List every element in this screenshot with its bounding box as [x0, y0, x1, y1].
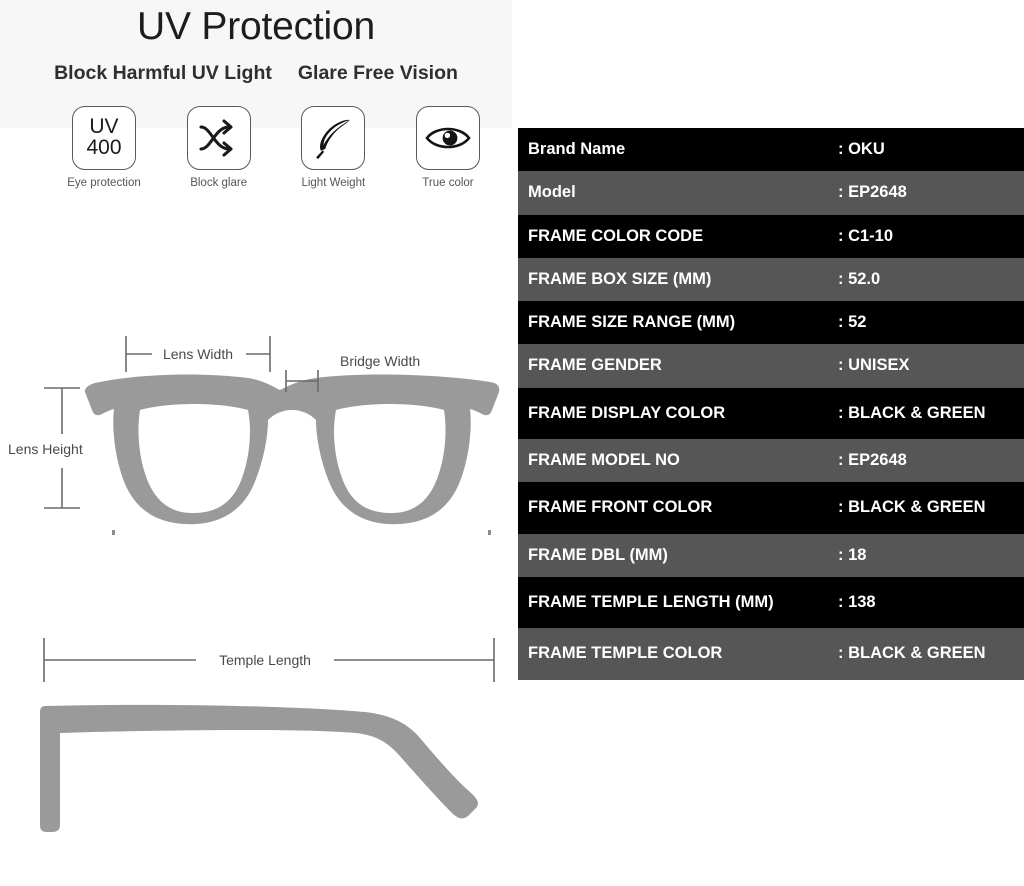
uv400-icon-line2: 400	[86, 138, 121, 159]
table-row: FRAME COLOR CODE : C1-10	[518, 215, 1024, 258]
table-row: FRAME MODEL NO : EP2648	[518, 439, 1024, 482]
table-row: FRAME DISPLAY COLOR : BLACK & GREEN	[518, 388, 1024, 439]
table-row: FRAME TEMPLE COLOR : BLACK & GREEN	[518, 628, 1024, 679]
lens-width-label: Lens Width	[163, 346, 233, 362]
spec-value: : BLACK & GREEN	[838, 482, 1024, 533]
uv-subtitle-glare-free: Glare Free Vision	[298, 62, 458, 85]
frame-specification-table: Brand Name : OKU Model : EP2648 FRAME CO…	[518, 128, 1024, 680]
uv-subtitle-block-harmful: Block Harmful UV Light	[54, 62, 272, 85]
spec-value: : BLACK & GREEN	[838, 628, 1024, 679]
uv-protection-title: UV Protection	[0, 6, 512, 49]
spec-label: FRAME TEMPLE COLOR	[518, 628, 838, 679]
feature-eye-protection: UV 400 Eye protection	[56, 106, 152, 189]
table-row: FRAME BOX SIZE (MM) : 52.0	[518, 258, 1024, 301]
spec-label: FRAME MODEL NO	[518, 439, 838, 482]
lens-height-label: Lens Height	[8, 441, 83, 457]
spec-label: FRAME DBL (MM)	[518, 534, 838, 577]
spec-value: : EP2648	[838, 171, 1024, 214]
shuffle-arrows-icon	[187, 106, 251, 170]
frame-front-diagram: Lens Width Bridge Width Lens Height	[0, 330, 512, 560]
table-row: FRAME FRONT COLOR : BLACK & GREEN	[518, 482, 1024, 533]
spec-value: : 52	[838, 301, 1024, 344]
feature-caption-true-color: True color	[422, 177, 473, 189]
spec-value: : 52.0	[838, 258, 1024, 301]
table-row: Model : EP2648	[518, 171, 1024, 214]
eye-icon	[416, 106, 480, 170]
feature-icon-row: UV 400 Eye protection Block glare	[56, 106, 496, 189]
feature-caption-eye-protection: Eye protection	[67, 177, 141, 189]
temple-length-label: Temple Length	[219, 652, 311, 668]
feature-caption-block-glare: Block glare	[190, 177, 247, 189]
feature-light-weight: Light Weight	[285, 106, 381, 189]
table-row: FRAME DBL (MM) : 18	[518, 534, 1024, 577]
spec-label: FRAME GENDER	[518, 344, 838, 387]
spec-label: FRAME DISPLAY COLOR	[518, 388, 838, 439]
table-row: FRAME TEMPLE LENGTH (MM) : 138	[518, 577, 1024, 628]
uv400-icon: UV 400	[72, 106, 136, 170]
feather-icon	[301, 106, 365, 170]
spec-value: : 18	[838, 534, 1024, 577]
spec-value: : EP2648	[838, 439, 1024, 482]
table-row: FRAME GENDER : UNISEX	[518, 344, 1024, 387]
spec-label: FRAME FRONT COLOR	[518, 482, 838, 533]
spec-label: FRAME SIZE RANGE (MM)	[518, 301, 838, 344]
spec-label: FRAME TEMPLE LENGTH (MM)	[518, 577, 838, 628]
feature-block-glare: Block glare	[171, 106, 267, 189]
spec-value: : C1-10	[838, 215, 1024, 258]
spec-value: : UNISEX	[838, 344, 1024, 387]
spec-value: : 138	[838, 577, 1024, 628]
table-row: FRAME SIZE RANGE (MM) : 52	[518, 301, 1024, 344]
frame-temple-diagram: Temple Length	[0, 620, 512, 860]
feature-true-color: True color	[400, 106, 496, 189]
product-spec-page: UV Protection Block Harmful UV Light Gla…	[0, 0, 1024, 886]
uv-protection-panel: UV Protection Block Harmful UV Light Gla…	[0, 0, 512, 886]
spec-value: : OKU	[838, 128, 1024, 171]
spec-label: Brand Name	[518, 128, 838, 171]
bridge-width-label: Bridge Width	[340, 353, 420, 369]
spec-label: Model	[518, 171, 838, 214]
feature-caption-light-weight: Light Weight	[301, 177, 365, 189]
spec-table-body: Brand Name : OKU Model : EP2648 FRAME CO…	[518, 128, 1024, 680]
uv-subtitle-row: Block Harmful UV Light Glare Free Vision	[0, 62, 512, 85]
spec-label: FRAME BOX SIZE (MM)	[518, 258, 838, 301]
spec-value: : BLACK & GREEN	[838, 388, 1024, 439]
uv400-icon-line1: UV	[86, 117, 121, 138]
table-row: Brand Name : OKU	[518, 128, 1024, 171]
spec-label: FRAME COLOR CODE	[518, 215, 838, 258]
